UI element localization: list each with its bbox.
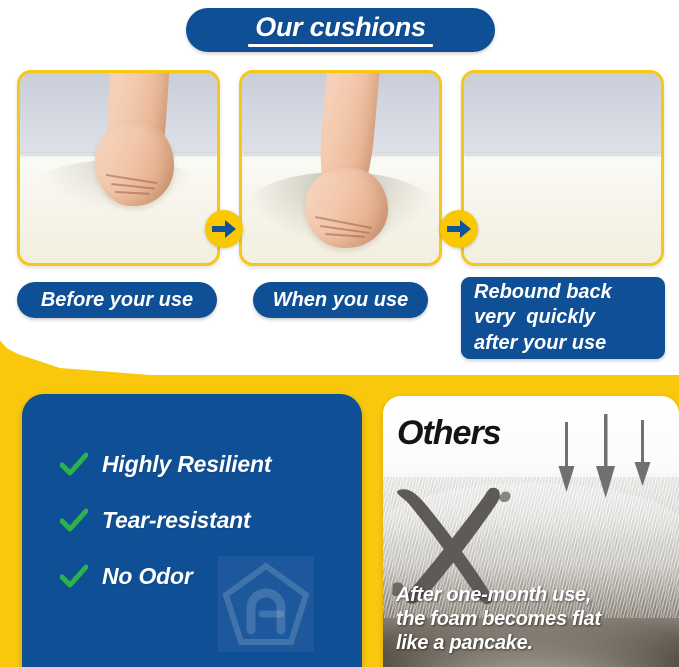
demo-photo-during (239, 70, 442, 266)
knuckle-line (325, 233, 365, 238)
caption-before-your-use: Before your use (17, 282, 217, 318)
feature-item: Tear-resistant (60, 492, 360, 548)
feature-list: Highly Resilient Tear-resistant No Odor (60, 436, 360, 604)
yellow-swoosh-decoration (0, 338, 200, 398)
features-card: Highly Resilient Tear-resistant No Odor (22, 394, 362, 667)
title-underline (248, 44, 433, 47)
others-caption-line-2: the foam becomes flat (396, 607, 679, 631)
check-icon (60, 508, 88, 532)
caption-line-1: Rebound back (474, 280, 612, 306)
foam-scene-before (20, 73, 217, 263)
check-icon (60, 452, 88, 476)
caption-line-3: after your use (474, 331, 606, 357)
others-title: Others (397, 414, 501, 453)
caption-text: Before your use (41, 289, 193, 312)
fist (305, 168, 388, 248)
fist (95, 122, 174, 206)
caption-text: When you use (273, 289, 409, 312)
arrow-right-icon (447, 220, 471, 238)
page-title-banner: Our cushions (186, 8, 495, 52)
arrow-right-icon (212, 220, 236, 238)
knuckle-line (111, 183, 155, 190)
caption-when-you-use: When you use (253, 282, 428, 318)
others-caption: After one-month use, the foam becomes fl… (383, 577, 679, 667)
caption-rebound-back: Rebound back very quickly after your use (461, 277, 665, 359)
feature-item: No Odor (60, 548, 360, 604)
step-arrow-1 (205, 210, 243, 248)
pressure-arrows-group (553, 414, 663, 504)
feature-label: Tear-resistant (102, 507, 250, 534)
others-caption-line-1: After one-month use, (396, 583, 679, 607)
step-arrow-2 (440, 210, 478, 248)
feature-label: No Odor (102, 563, 193, 590)
infographic-canvas: Our cushions (0, 0, 679, 667)
demo-photo-before (17, 70, 220, 266)
check-icon (60, 564, 88, 588)
foam-scene-after (464, 73, 661, 263)
knuckle-line (115, 191, 150, 195)
others-caption-line-3: like a pancake. (396, 631, 679, 655)
foam-block (464, 153, 661, 263)
others-card: Others (383, 396, 679, 667)
page-title: Our cushions (255, 14, 425, 41)
demo-photo-row (0, 70, 679, 266)
foam-top-edge (464, 153, 661, 156)
demo-photo-after (461, 70, 664, 266)
feature-item: Highly Resilient (60, 436, 360, 492)
caption-line-2: very quickly (474, 305, 595, 331)
scene-background-wall (464, 73, 661, 157)
foam-scene-during (242, 73, 439, 263)
feature-label: Highly Resilient (102, 451, 271, 478)
